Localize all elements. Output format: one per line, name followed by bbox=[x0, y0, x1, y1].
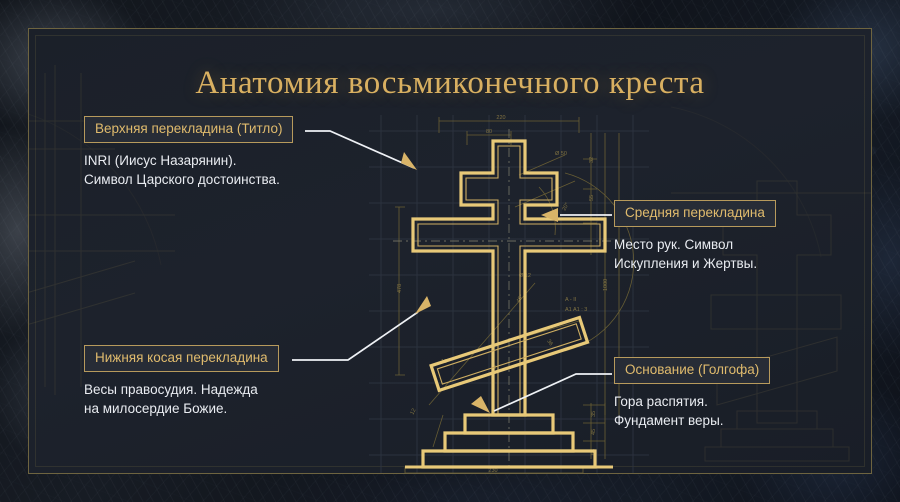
svg-text:12: 12 bbox=[409, 408, 417, 416]
callout-description-lower-slanted-bar: Весы правосудия. Надежда на милосердие Б… bbox=[84, 380, 279, 419]
svg-text:35: 35 bbox=[591, 411, 597, 417]
callout-description-middle-bar: Место рук. Символ Искупления и Жертвы. bbox=[614, 235, 776, 274]
callout-lower-slanted-bar: Нижняя косая перекладина Весы правосудия… bbox=[84, 345, 279, 419]
svg-text:230: 230 bbox=[488, 468, 497, 474]
callout-chip-middle-bar[interactable]: Средняя перекладина bbox=[614, 200, 776, 227]
callout-description-top-bar: INRI (Иисус Назарянин). Символ Царского … bbox=[84, 151, 293, 190]
svg-text:A1 A1 : 3: A1 A1 : 3 bbox=[565, 307, 587, 313]
slide-canvas: Анатомия восьмиконечного креста bbox=[0, 0, 900, 502]
callout-chip-base[interactable]: Основание (Голгофа) bbox=[614, 357, 770, 384]
svg-text:Ø 50: Ø 50 bbox=[555, 151, 567, 157]
dimension-text: 220 80 Ø 50 20° 32 55 45° A - II A1 A1 :… bbox=[397, 115, 609, 474]
dimension-lines bbox=[395, 117, 619, 474]
svg-text:55: 55 bbox=[589, 195, 595, 201]
page-title: Анатомия восьмиконечного креста bbox=[29, 65, 871, 102]
callout-base: Основание (Голгофа) Гора распятия. Фунда… bbox=[614, 357, 770, 431]
svg-text:220: 220 bbox=[496, 115, 505, 121]
callout-middle-bar: Средняя перекладина Место рук. Символ Ис… bbox=[614, 200, 776, 274]
callout-chip-top-bar[interactable]: Верхняя перекладина (Титло) bbox=[84, 116, 293, 143]
cross-outline bbox=[413, 141, 605, 415]
svg-text:45: 45 bbox=[591, 429, 597, 435]
svg-text:80: 80 bbox=[486, 129, 492, 135]
svg-text:32: 32 bbox=[589, 157, 595, 163]
callout-description-base: Гора распятия. Фундамент веры. bbox=[614, 392, 770, 431]
svg-text:A - II: A - II bbox=[565, 297, 577, 303]
svg-text:478: 478 bbox=[397, 284, 403, 293]
svg-text:36: 36 bbox=[545, 339, 553, 347]
callout-top-bar: Верхняя перекладина (Титло) INRI (Иисус … bbox=[84, 116, 293, 190]
cross-technical-drawing: 220 80 Ø 50 20° 32 55 45° A - II A1 A1 :… bbox=[369, 115, 649, 474]
callout-chip-lower-slanted-bar[interactable]: Нижняя косая перекладина bbox=[84, 345, 279, 372]
svg-text:1000: 1000 bbox=[603, 279, 609, 291]
